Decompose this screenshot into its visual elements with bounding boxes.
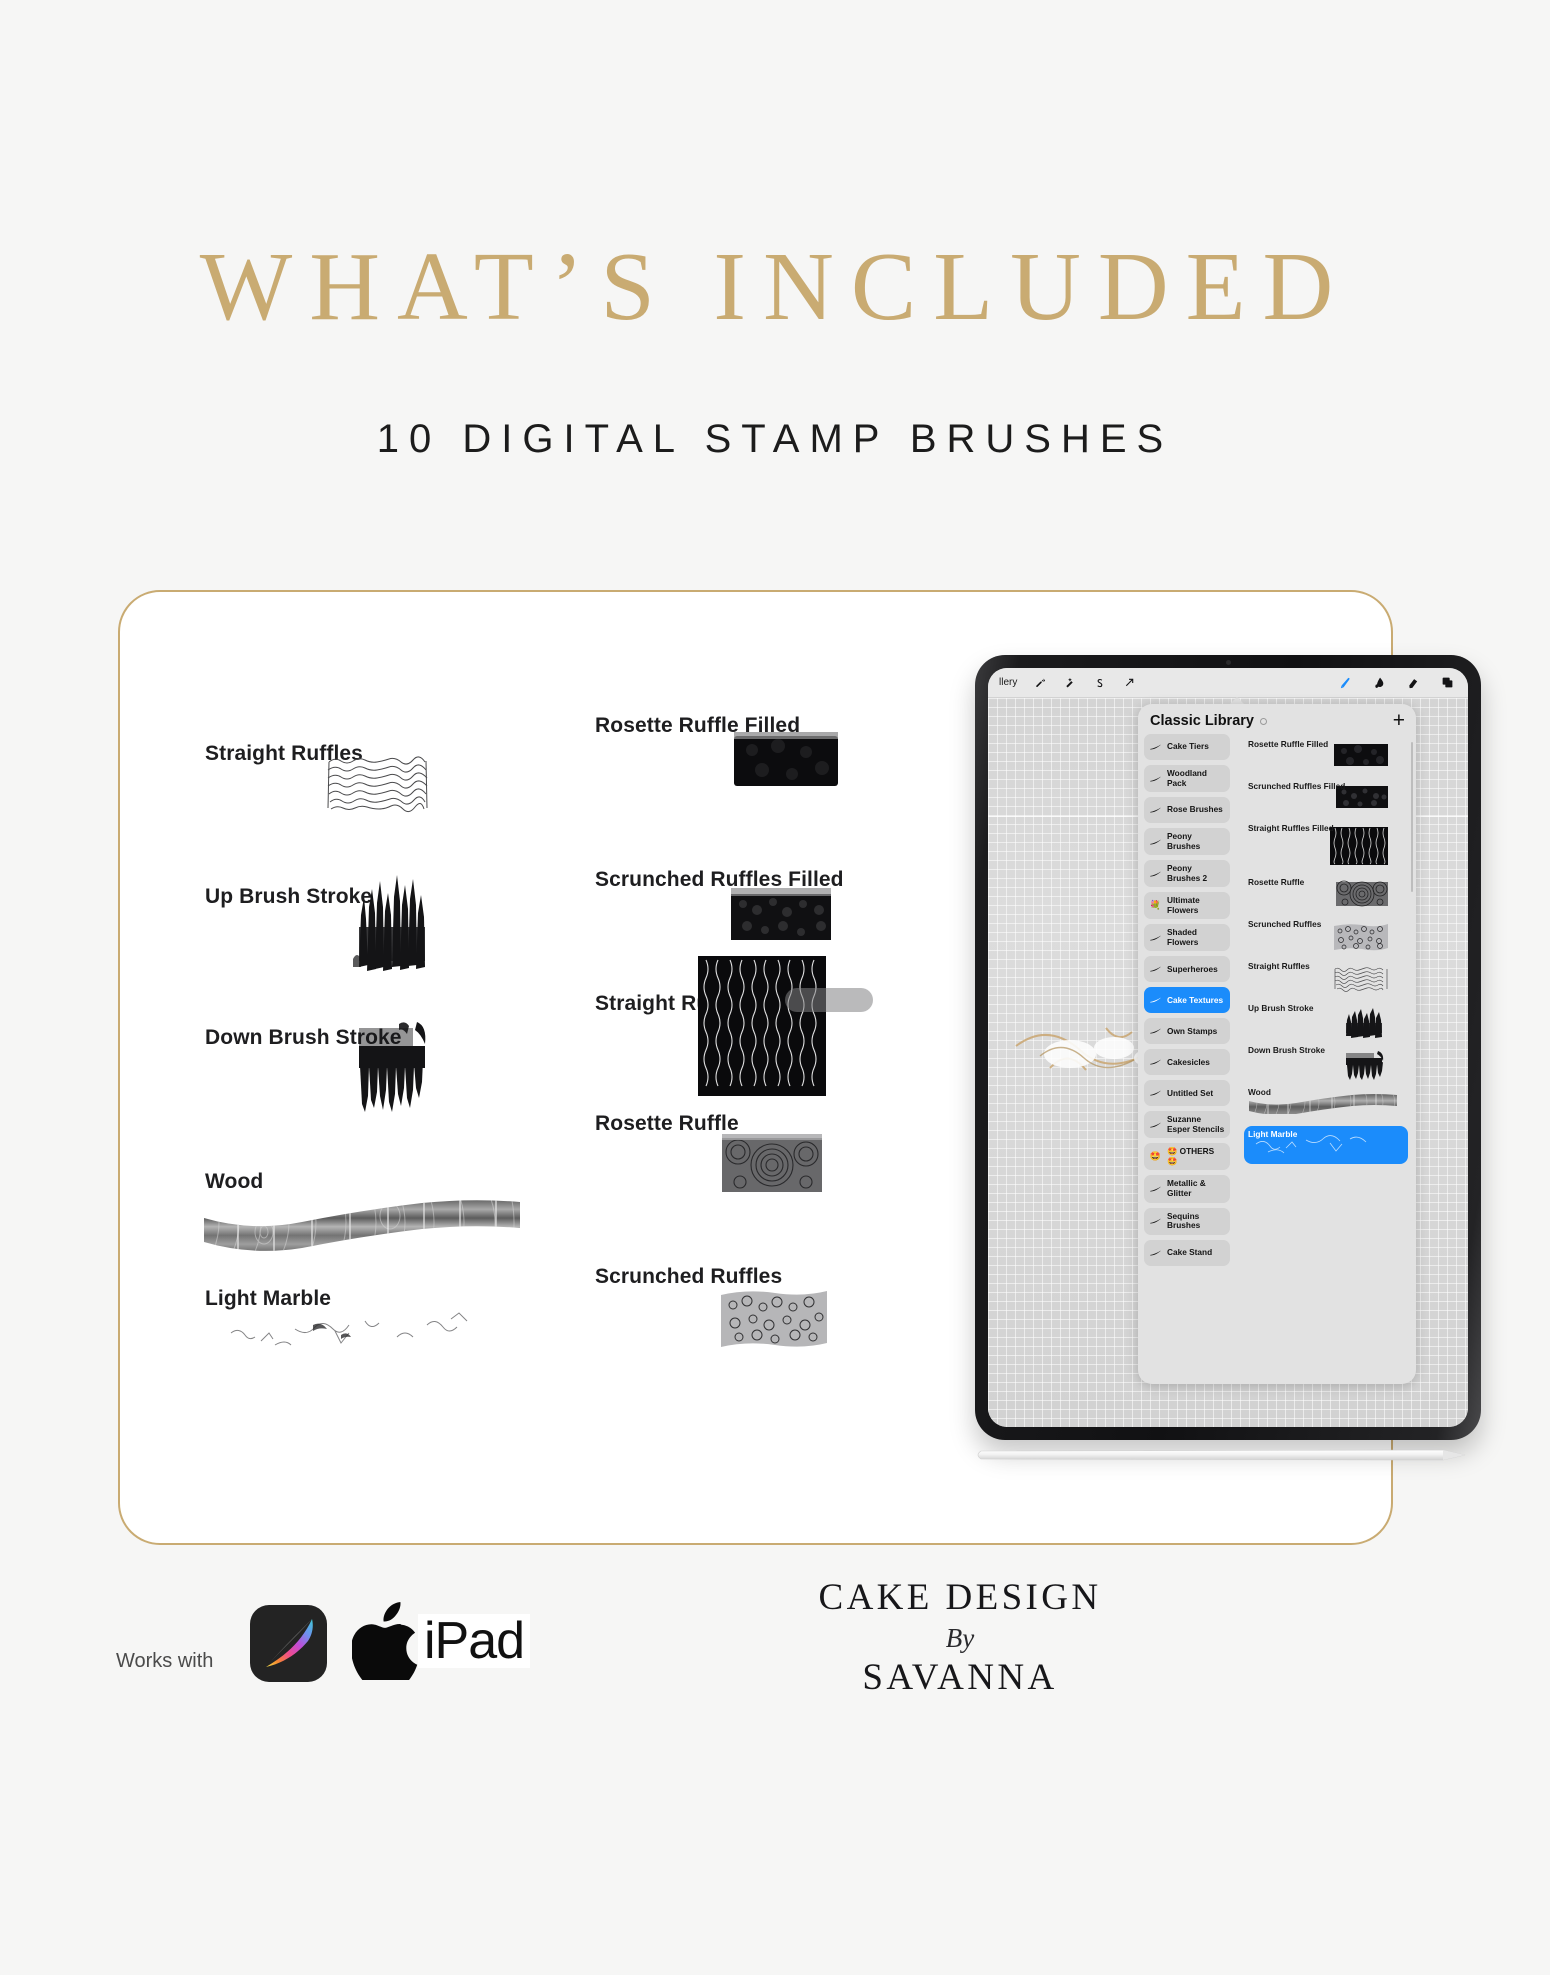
brush-set-item[interactable]: Suzanne Esper Stencils: [1144, 1111, 1230, 1138]
brush-name: Up Brush Stroke: [1248, 1003, 1404, 1013]
brush-set-list[interactable]: Cake TiersWoodland PackRose BrushesPeony…: [1138, 734, 1234, 1379]
brush-sample-label: Light Marble: [205, 1287, 331, 1311]
brush-name: Scrunched Ruffles Filled: [1248, 781, 1404, 791]
page-subtitle: 10 DIGITAL STAMP BRUSHES: [0, 417, 1550, 462]
brush-set-item[interactable]: Cake Tiers: [1144, 734, 1230, 760]
apple-logo: [352, 1602, 418, 1680]
brush-stroke-icon: [1149, 1026, 1162, 1037]
swatch-rosette-ruffle-filled: [730, 732, 842, 790]
brush-set-label: Own Stamps: [1167, 1027, 1217, 1037]
ipad-mockup: llery: [965, 655, 1495, 1490]
swatch-down-brush-stroke: [347, 1000, 437, 1118]
brush-set-item[interactable]: Sequins Brushes: [1144, 1208, 1230, 1235]
swatch-wavy-ruffle-outline: [325, 752, 435, 818]
scrollbar[interactable]: [1411, 742, 1413, 892]
brush-set-label: Peony Brushes: [1167, 832, 1225, 851]
brush-name: Wood: [1248, 1087, 1404, 1097]
brush-name: Rosette Ruffle Filled: [1248, 739, 1404, 749]
smudge-icon[interactable]: [1364, 671, 1394, 695]
swatch-light-marble: [215, 1311, 505, 1361]
brush-list-item[interactable]: Scrunched Ruffles: [1244, 916, 1408, 954]
eraser-icon[interactable]: [1398, 671, 1428, 695]
brush-set-label: Metallic & Glitter: [1167, 1179, 1225, 1198]
brand-line-2: SAVANNA: [760, 1656, 1160, 1699]
brush-library-panel: Classic Library + Cake TiersWoodland Pac…: [1138, 704, 1416, 1384]
brush-sample-up-brush-stroke: Up Brush Stroke: [205, 885, 372, 909]
toolbar-right-group: [1330, 671, 1468, 695]
brush-set-item[interactable]: Shaded Flowers: [1144, 924, 1230, 951]
brush-list-item[interactable]: Rosette Ruffle: [1244, 874, 1408, 912]
panel-header: Classic Library +: [1138, 704, 1416, 734]
brush-stroke-icon: [1149, 1057, 1162, 1068]
ipad-wordmark: iPad: [418, 1614, 530, 1669]
brush-set-item[interactable]: Woodland Pack: [1144, 765, 1230, 792]
brush-name: Straight Ruffles Filled: [1248, 823, 1404, 833]
brush-sample-light-marble: Light Marble: [205, 1287, 331, 1311]
brush-set-label: Rose Brushes: [1167, 805, 1223, 815]
brush-list-item[interactable]: Scrunched Ruffles Filled: [1244, 778, 1408, 816]
brush-set-label: Cake Stand: [1167, 1248, 1212, 1258]
ipad-camera-icon: [1226, 660, 1231, 665]
swatch-scrunched-ruffles: [717, 1287, 833, 1353]
brush-stroke-icon: [1149, 836, 1162, 847]
brush-stroke-icon: [1149, 1119, 1162, 1130]
brush-sample-straight-ruffles-filled: Straight Ruffles Filled: [595, 992, 814, 1016]
brush-set-label: Untitled Set: [1167, 1089, 1213, 1099]
brush-set-label: Cake Tiers: [1167, 742, 1209, 752]
brush-stroke-icon: [1149, 773, 1162, 784]
gallery-button[interactable]: llery: [992, 677, 1024, 688]
brush-set-item[interactable]: Untitled Set: [1144, 1080, 1230, 1106]
flower-emoji-icon: 💐: [1149, 900, 1162, 911]
paintbrush-icon[interactable]: [1330, 671, 1360, 695]
magic-wand-icon[interactable]: [1054, 672, 1084, 693]
add-brush-button[interactable]: +: [1393, 714, 1405, 728]
brush-set-item[interactable]: Peony Brushes: [1144, 828, 1230, 855]
swatch-wood-grain-band: [202, 1192, 522, 1254]
brush-name: Scrunched Ruffles: [1248, 919, 1404, 929]
swatch-scrunched-ruffles-filled: [727, 888, 837, 944]
brush-set-label: Woodland Pack: [1167, 769, 1225, 788]
brush-list-item[interactable]: Up Brush Stroke: [1244, 1000, 1408, 1038]
brush-stroke-icon: [1149, 1088, 1162, 1099]
brush-set-label: 🤩 OTHERS 🤩: [1167, 1147, 1225, 1166]
procreate-logo: [250, 1605, 327, 1682]
apple-pencil: [973, 1447, 1473, 1463]
swatch-rosette-ruffle: [718, 1134, 826, 1196]
brush-stroke-icon: [1149, 742, 1162, 753]
brush-stroke-icon: [1149, 868, 1162, 879]
brush-list-item[interactable]: Rosette Ruffle Filled: [1244, 736, 1408, 774]
brush-set-label: Suzanne Esper Stencils: [1167, 1115, 1225, 1134]
ipad-body: llery: [975, 655, 1481, 1440]
brush-list-item[interactable]: Down Brush Stroke: [1244, 1042, 1408, 1080]
brush-sample-down-brush-stroke: Down Brush Stroke: [205, 1026, 402, 1050]
swatch-straight-ruffles-filled: [692, 952, 832, 1100]
brush-stroke-icon: [1149, 932, 1162, 943]
brush-set-item[interactable]: Rose Brushes: [1144, 797, 1230, 823]
brush-name: Down Brush Stroke: [1248, 1045, 1404, 1055]
brush-sample-scrunched-ruffles: Scrunched Ruffles: [595, 1265, 782, 1289]
brush-stroke-icon: [1149, 805, 1162, 816]
works-with-label: Works with: [116, 1650, 213, 1673]
brush-set-label: Cakesicles: [1167, 1058, 1210, 1068]
star-eyes-emoji-icon: 🤩: [1149, 1151, 1162, 1162]
brush-set-item[interactable]: Own Stamps: [1144, 1018, 1230, 1044]
brush-set-item[interactable]: Superheroes: [1144, 956, 1230, 982]
panel-title: Classic Library: [1150, 713, 1254, 729]
brush-set-item[interactable]: Metallic & Glitter: [1144, 1175, 1230, 1202]
procreate-toolbar: llery: [988, 668, 1468, 698]
brush-sample-rosette-ruffle: Rosette Ruffle: [595, 1112, 739, 1136]
brush-name: Straight Ruffles: [1248, 961, 1404, 971]
brush-sample-rosette-ruffle-filled: Rosette Ruffle Filled: [595, 714, 800, 738]
tooltip-pill: [785, 988, 873, 1012]
brush-set-item[interactable]: 💐Ultimate Flowers: [1144, 892, 1230, 919]
poster-root: WHAT’S INCLUDED 10 DIGITAL STAMP BRUSHES…: [0, 0, 1550, 1975]
page-title: WHAT’S INCLUDED: [0, 238, 1550, 336]
selection-s-icon[interactable]: [1084, 672, 1114, 693]
brush-set-item[interactable]: Cakesicles: [1144, 1049, 1230, 1075]
brush-name: Rosette Ruffle: [1248, 877, 1404, 887]
brush-sample-label: Scrunched Ruffles: [595, 1265, 782, 1289]
brush-stroke-icon: [1149, 1216, 1162, 1227]
brush-set-item[interactable]: Cake Stand: [1144, 1240, 1230, 1266]
apple-ipad-logo: iPad: [352, 1602, 530, 1680]
brush-list[interactable]: Rosette Ruffle FilledScrunched Ruffles F…: [1234, 734, 1416, 1379]
brand-logo: CAKE DESIGN By SAVANNA: [760, 1576, 1160, 1699]
brush-sample-scrunched-ruffles-filled: Scrunched Ruffles Filled: [595, 868, 844, 892]
brush-stroke-icon: [1149, 964, 1162, 975]
brush-stroke-icon: [1149, 995, 1162, 1006]
brush-list-item[interactable]: Light Marble: [1244, 1126, 1408, 1164]
brush-list-item[interactable]: Straight Ruffles: [1244, 958, 1408, 996]
brush-set-label: Cake Textures: [1167, 996, 1223, 1006]
brush-list-item[interactable]: Straight Ruffles Filled: [1244, 820, 1408, 870]
brush-sample-wood: Wood: [205, 1170, 263, 1194]
library-status-dot-icon: [1260, 718, 1267, 725]
brush-set-item[interactable]: Peony Brushes 2: [1144, 860, 1230, 887]
brand-line-1: CAKE DESIGN: [760, 1576, 1160, 1619]
brush-stroke-icon: [1149, 1247, 1162, 1258]
layers-icon[interactable]: [1432, 671, 1462, 695]
brush-set-item[interactable]: 🤩🤩 OTHERS 🤩: [1144, 1143, 1230, 1170]
brush-set-label: Ultimate Flowers: [1167, 896, 1225, 915]
ipad-screen: llery: [988, 668, 1468, 1427]
brush-sample-label: Wood: [205, 1170, 263, 1194]
brand-by: By: [760, 1623, 1160, 1654]
swatch-up-brush-stroke: [347, 867, 437, 982]
brush-list-item[interactable]: Wood: [1244, 1084, 1408, 1122]
brush-sample-straight-ruffles: Straight Ruffles: [205, 742, 363, 766]
brush-set-label: Shaded Flowers: [1167, 928, 1225, 947]
brush-set-item[interactable]: Cake Textures: [1144, 987, 1230, 1013]
brush-stroke-icon: [1149, 1183, 1162, 1194]
brush-sample-label: Rosette Ruffle: [595, 1112, 739, 1136]
transform-arrow-icon[interactable]: [1114, 672, 1144, 693]
brush-name: Light Marble: [1248, 1129, 1404, 1139]
brush-set-label: Sequins Brushes: [1167, 1212, 1225, 1231]
brush-set-label: Peony Brushes 2: [1167, 864, 1225, 883]
panel-body: Cake TiersWoodland PackRose BrushesPeony…: [1138, 734, 1416, 1379]
brush-set-label: Superheroes: [1167, 965, 1218, 975]
wrench-icon[interactable]: [1024, 672, 1054, 693]
toolbar-left-group: llery: [988, 672, 1144, 693]
